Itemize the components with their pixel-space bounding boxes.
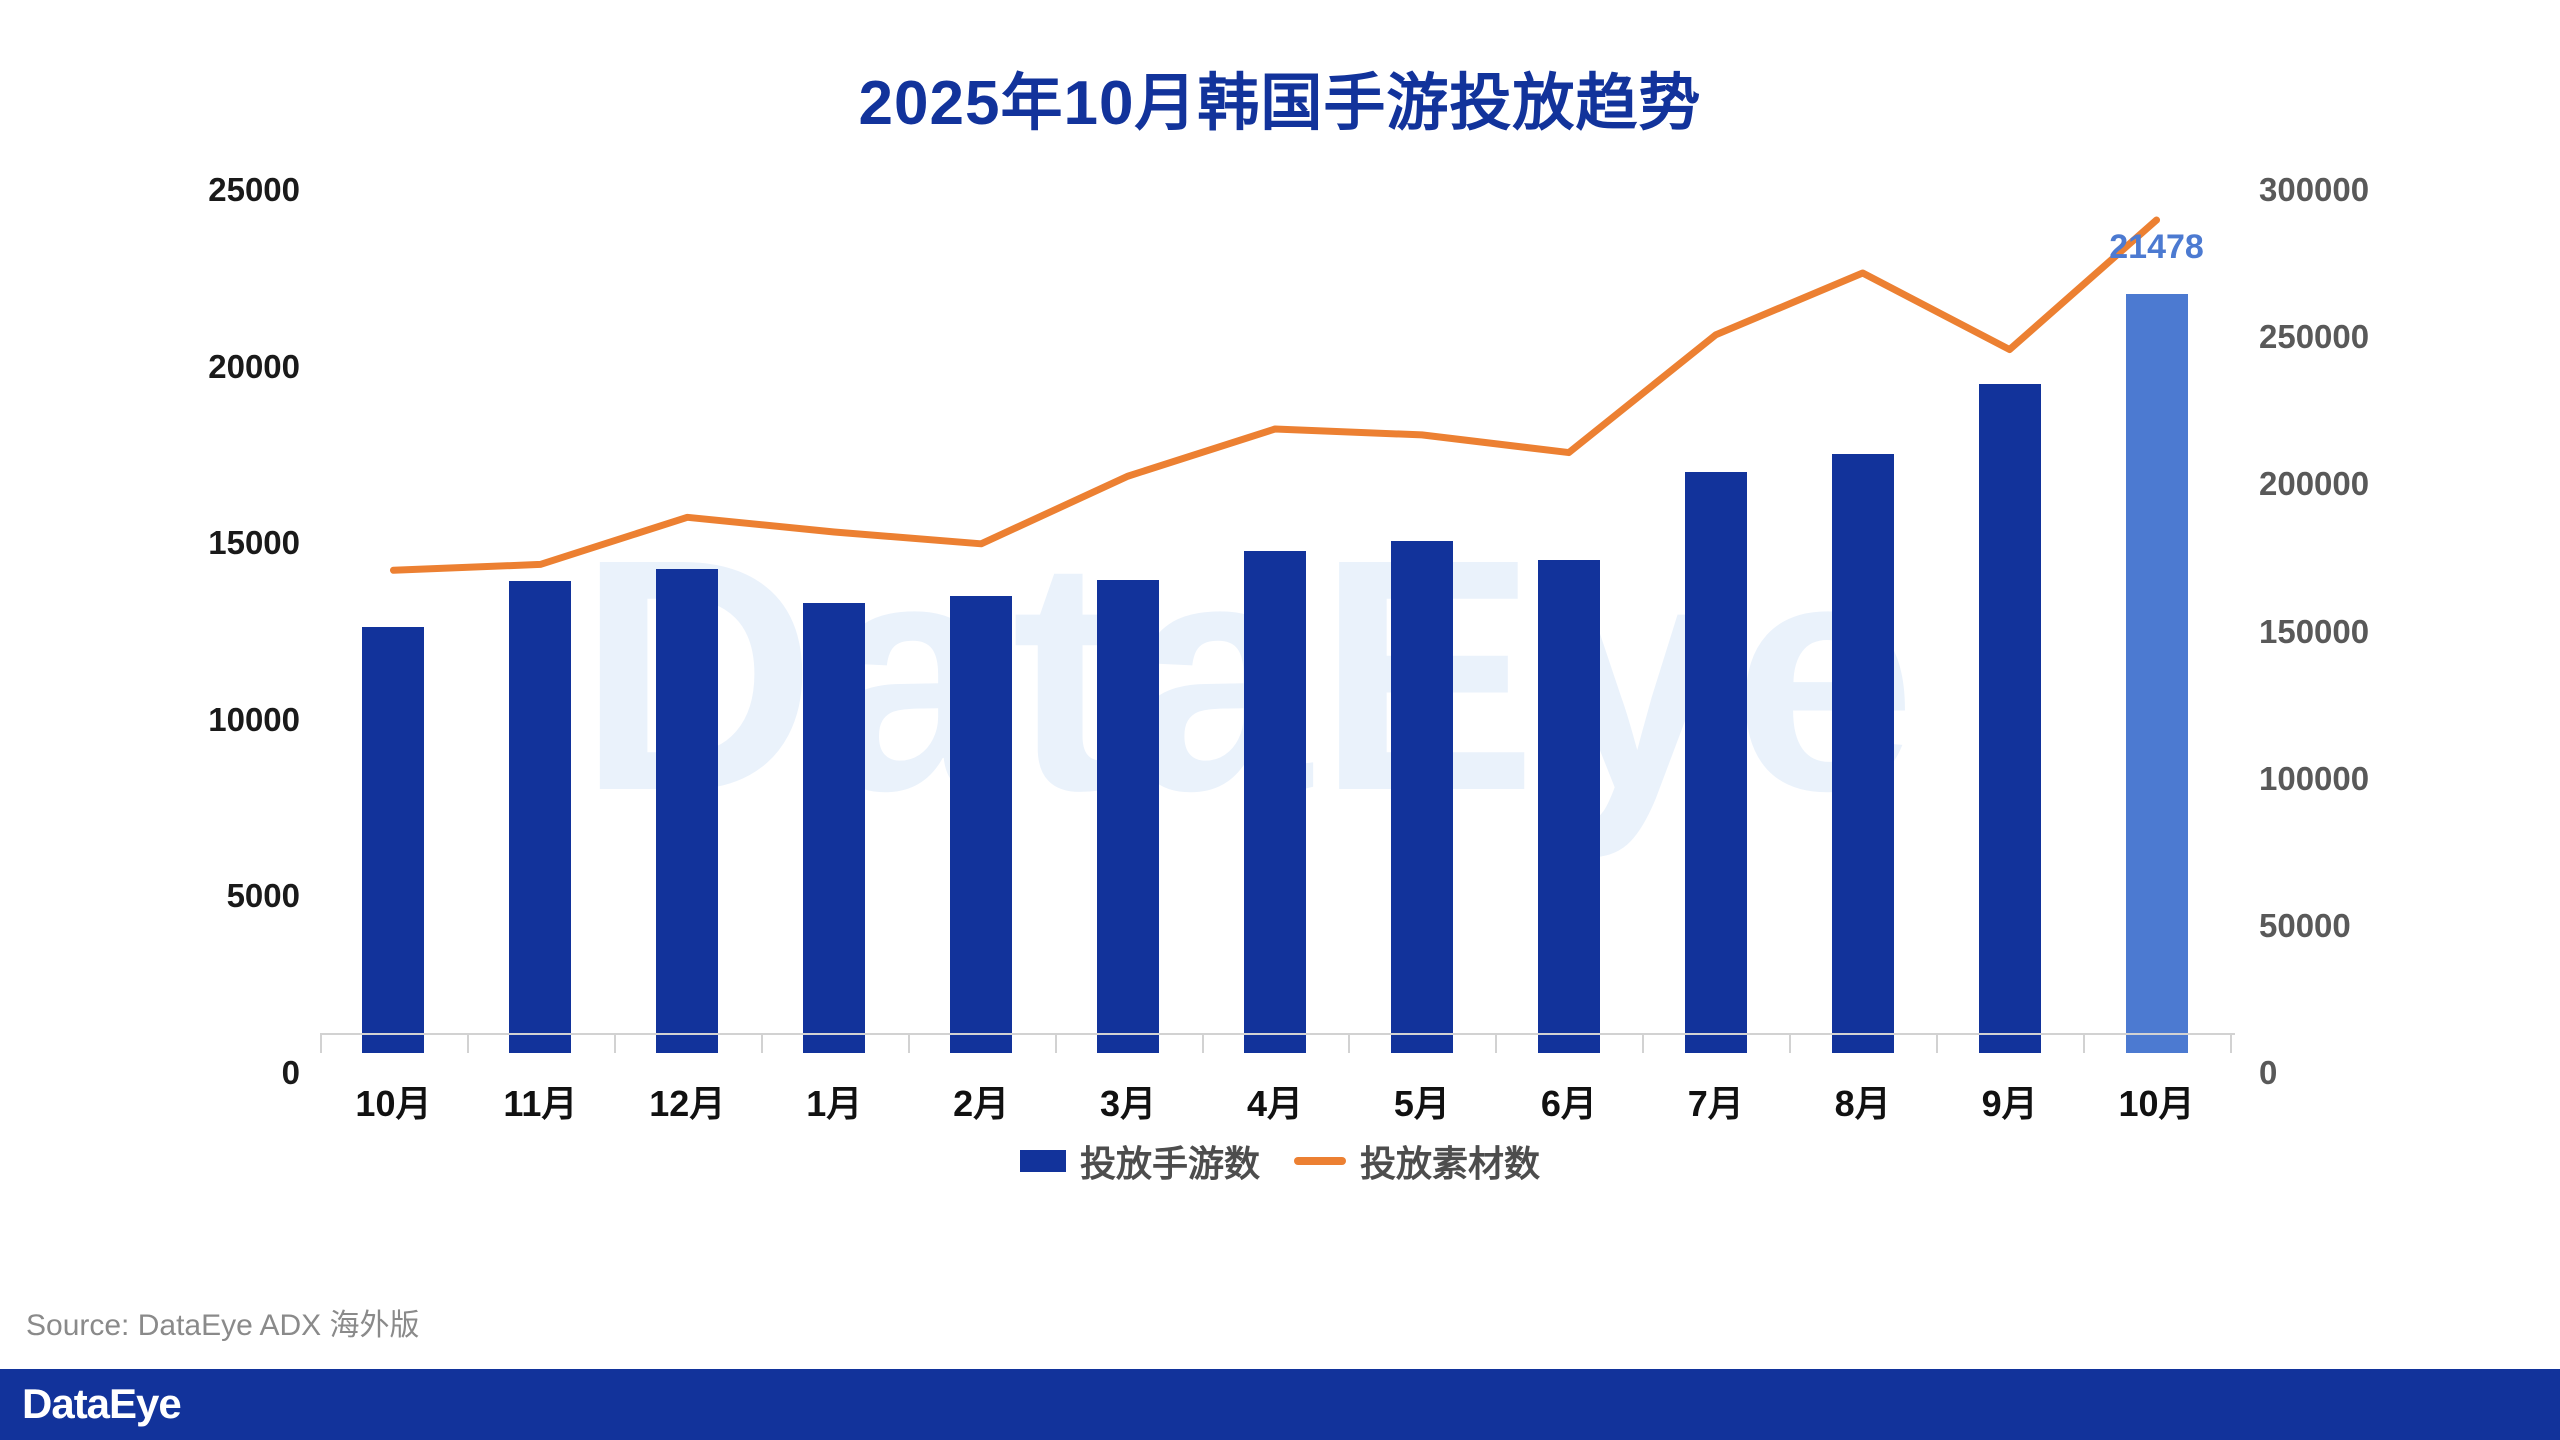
x-axis-labels: 10月11月12月1月2月3月4月5月6月7月8月9月10月 bbox=[320, 1075, 2230, 1135]
left-axis-tick: 25000 bbox=[208, 171, 300, 209]
x-axis-label-10: 8月 bbox=[1835, 1075, 1891, 1127]
x-axis-label-8: 6月 bbox=[1541, 1075, 1597, 1127]
right-axis-tick: 50000 bbox=[2259, 907, 2351, 945]
x-axis-tickmark bbox=[1055, 1033, 1057, 1053]
legend-label: 投放手游数 bbox=[1080, 1135, 1260, 1187]
left-axis-tick: 20000 bbox=[208, 348, 300, 386]
right-axis-tick: 150000 bbox=[2259, 613, 2369, 651]
x-axis-label-2: 12月 bbox=[649, 1075, 725, 1127]
x-axis-label-12: 10月 bbox=[2119, 1075, 2195, 1127]
footer-bar bbox=[0, 1372, 2560, 1440]
right-axis-tick: 100000 bbox=[2259, 760, 2369, 798]
x-axis-tickmark bbox=[1642, 1033, 1644, 1053]
page-title: 2025年10月韩国手游投放趋势 bbox=[0, 52, 2560, 142]
x-axis-label-0: 10月 bbox=[355, 1075, 431, 1127]
x-axis-tickmark bbox=[2083, 1033, 2085, 1053]
dataeye-logo: DataEye bbox=[22, 1380, 181, 1428]
bar-value-label: 21478 bbox=[2109, 228, 2204, 267]
right-axis-tick: 300000 bbox=[2259, 171, 2369, 209]
legend-item-1[interactable]: 投放素材数 bbox=[1294, 1135, 1540, 1187]
x-axis-tickmark bbox=[2230, 1033, 2232, 1053]
chart-legend: 投放手游数投放素材数 bbox=[0, 1135, 2560, 1187]
legend-label: 投放素材数 bbox=[1360, 1135, 1540, 1187]
legend-item-0[interactable]: 投放手游数 bbox=[1020, 1135, 1260, 1187]
right-y-axis: 050000100000150000200000250000300000 bbox=[2245, 170, 2445, 1070]
x-axis-label-5: 3月 bbox=[1100, 1075, 1156, 1127]
x-axis-tickmark bbox=[1495, 1033, 1497, 1053]
legend-bar-swatch-icon bbox=[1020, 1150, 1066, 1172]
x-axis-label-11: 9月 bbox=[1982, 1075, 2038, 1127]
plot-area: 21478 bbox=[320, 170, 2230, 1070]
x-axis-label-3: 1月 bbox=[806, 1075, 862, 1127]
x-axis-tickmark bbox=[1936, 1033, 1938, 1053]
source-note: Source: DataEye ADX 海外版 bbox=[26, 1300, 420, 1344]
x-axis-label-9: 7月 bbox=[1688, 1075, 1744, 1127]
x-axis-tickmark bbox=[908, 1033, 910, 1053]
x-axis-label-1: 11月 bbox=[503, 1075, 577, 1127]
x-axis-tickmark bbox=[1348, 1033, 1350, 1053]
x-axis-tickmark bbox=[614, 1033, 616, 1053]
x-axis-label-7: 5月 bbox=[1394, 1075, 1450, 1127]
x-axis-tickmark bbox=[1789, 1033, 1791, 1053]
x-axis-baseline bbox=[320, 1033, 2235, 1035]
left-axis-tick: 0 bbox=[282, 1054, 300, 1092]
x-axis-tickmark bbox=[761, 1033, 763, 1053]
x-axis-label-6: 4月 bbox=[1247, 1075, 1303, 1127]
legend-line-swatch-icon bbox=[1294, 1157, 1346, 1165]
chart-container: DataEye 0500010000150002000025000 050000… bbox=[0, 150, 2560, 1210]
x-axis-tickmark bbox=[467, 1033, 469, 1053]
left-y-axis: 0500010000150002000025000 bbox=[110, 170, 310, 1070]
left-axis-tick: 15000 bbox=[208, 524, 300, 562]
line-series-path bbox=[393, 220, 2156, 570]
right-axis-tick: 250000 bbox=[2259, 318, 2369, 356]
x-axis-tickmark bbox=[320, 1033, 322, 1053]
x-axis-tickmark bbox=[1202, 1033, 1204, 1053]
right-axis-tick: 200000 bbox=[2259, 465, 2369, 503]
left-axis-tick: 5000 bbox=[227, 877, 300, 915]
left-axis-tick: 10000 bbox=[208, 701, 300, 739]
line-series-svg bbox=[320, 170, 2230, 1070]
right-axis-tick: 0 bbox=[2259, 1054, 2277, 1092]
x-axis-label-4: 2月 bbox=[953, 1075, 1009, 1127]
